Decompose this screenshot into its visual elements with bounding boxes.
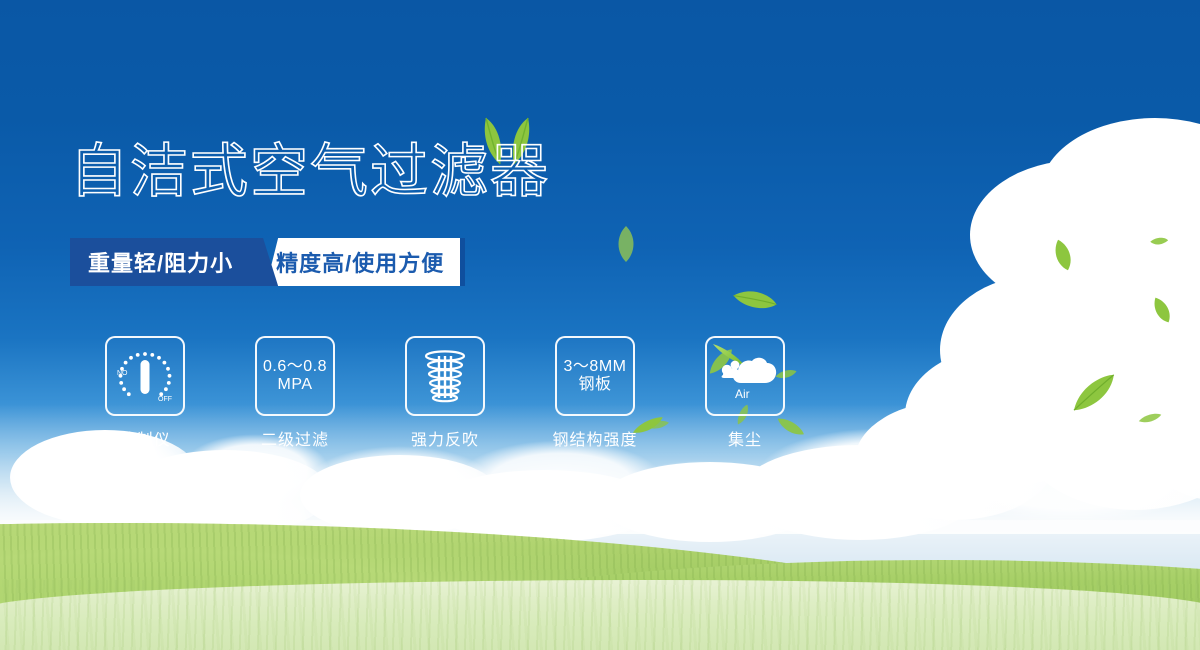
subtitle-banner: 重量轻/阻力小 精度高/使用方便 — [70, 238, 465, 286]
gauge-label-off: OFF — [158, 396, 172, 403]
cloud-air-label: Air — [735, 387, 750, 401]
feature-icon-box: Air — [705, 336, 785, 416]
feature-item-controller[interactable]: NO OFF 控制仪 — [70, 336, 220, 450]
feature-caption: 二级过滤 — [261, 426, 329, 450]
steel-plate-value-icon: 3～8MM 钢板 — [564, 358, 627, 394]
feature-item-strong-backblow[interactable]: 强力反吹 — [370, 336, 520, 450]
floating-leaf-icon — [1138, 411, 1163, 426]
leaf-overlay-icon — [713, 344, 745, 366]
feature-icon-box: 0.6～0.8 MPA — [255, 336, 335, 416]
subtitle-right-text: 精度高/使用方便 — [266, 238, 460, 286]
pressure-value-line2: MPA — [263, 376, 327, 394]
gauge-label-no: NO — [117, 370, 128, 377]
steel-value-line1: 3～8MM — [564, 358, 627, 376]
feature-item-two-stage-filter[interactable]: 0.6～0.8 MPA 二级过滤 — [220, 336, 370, 450]
steel-value-line2: 钢板 — [564, 376, 627, 394]
subtitle-end-cap — [460, 238, 465, 286]
feature-list: NO OFF 控制仪 0.6～0.8 MPA 二级过滤 — [70, 336, 820, 450]
page-title: 自洁式空气过滤器 — [70, 143, 550, 201]
hero-banner: 自洁式空气过滤器 重量轻/阻力小 精度高/使用方便 — [0, 0, 1200, 650]
feature-caption: 强力反吹 — [411, 426, 479, 450]
feature-item-dust-collection[interactable]: Air 集尘 — [670, 336, 820, 450]
pressure-value-icon: 0.6～0.8 MPA — [263, 358, 327, 394]
meadow-foreground — [0, 580, 1200, 650]
pressure-value-line1: 0.6～0.8 — [263, 358, 327, 376]
feature-caption: 钢结构强度 — [552, 426, 637, 450]
feature-caption: 集尘 — [728, 426, 762, 450]
cloud-air-icon: Air — [711, 342, 779, 410]
feature-icon-box — [405, 336, 485, 416]
gauge-dial-icon: NO OFF — [110, 341, 180, 411]
feature-icon-box: 3～8MM 钢板 — [555, 336, 635, 416]
feature-icon-box: NO OFF — [105, 336, 185, 416]
floating-leaf-icon — [612, 224, 640, 264]
filter-cartridge-icon — [415, 346, 475, 406]
subtitle-left-text: 重量轻/阻力小 — [70, 238, 253, 286]
feature-caption: 控制仪 — [119, 426, 170, 450]
